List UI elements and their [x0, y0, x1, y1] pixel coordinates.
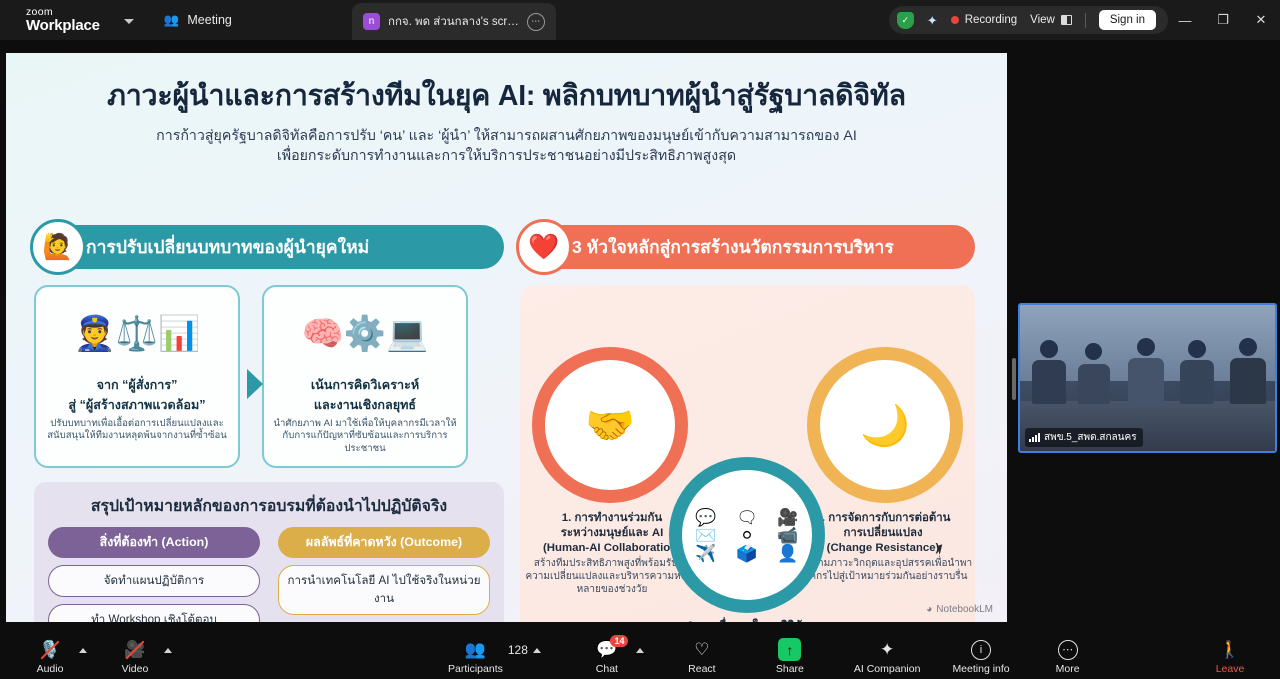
react-button[interactable]: ♡ React: [678, 639, 726, 675]
video-person-head: [1137, 338, 1155, 356]
tab-more-icon[interactable]: ⋯: [527, 13, 545, 31]
audio-label: Audio: [37, 663, 64, 675]
ai-companion-button[interactable]: ✦ AI Companion: [854, 639, 921, 675]
left-panel-header-label: การปรับเปลี่ยนบทบาทของผู้นำยุคใหม่: [86, 233, 369, 261]
zoom-workplace-logo: zoom Workplace: [26, 7, 100, 33]
ai-companion-label: AI Companion: [854, 663, 921, 675]
meeting-toolbar: 🎙️ Audio 🎥 Video 👥 Participants 128 💬 14…: [0, 635, 1280, 679]
video-person-head: [1239, 338, 1257, 356]
envelope-icon: ✉️: [686, 527, 726, 544]
left-card-1: 👮️⚖️📊 จาก “ผู้สั่งการ” สู่ “ผู้สร้างสภาพ…: [34, 285, 240, 468]
left-panel: 🙋 การปรับเปลี่ยนบทบาทของผู้นำยุคใหม่ 👮️⚖…: [34, 225, 504, 622]
shared-screen-tab-title: กกจ. พด ส่วนกลาง's screen: [388, 13, 519, 31]
action-item: จัดทำแผนปฏิบัติการ: [48, 565, 260, 597]
maximize-button[interactable]: ❐: [1204, 0, 1242, 40]
audio-button[interactable]: 🎙️ Audio: [26, 639, 74, 675]
share-label: Share: [776, 663, 804, 675]
scrollbar-handle[interactable]: [1012, 358, 1016, 400]
chat-options-chevron-icon[interactable]: [636, 648, 644, 653]
chat-bubble-icon: 💬: [686, 509, 726, 526]
video-group: 🎥 Video: [111, 639, 172, 675]
shared-screen-tab[interactable]: n กกจ. พด ส่วนกลาง's screen ⋯: [352, 3, 556, 40]
omnichannel-hub-icon: 💬 🗨 🎥 ✉️ ⚪ 📹 ✈️ 🗳️ 👤: [669, 457, 825, 613]
recording-indicator[interactable]: Recording: [951, 14, 1017, 26]
handshake-human-robot-icon: 🤝: [532, 347, 688, 503]
more-button[interactable]: ⋯ More: [1044, 639, 1092, 675]
left-card-2-heading-1: เน้นการคิดวิเคราะห์: [273, 377, 457, 393]
participants-group: 👥 Participants 128: [448, 639, 541, 675]
message-icon: 🗨: [727, 509, 767, 526]
outcome-column-header: ผลลัพธ์ที่คาดหวัง (Outcome): [278, 527, 490, 558]
left-card-1-heading-2: สู่ “ผู้สร้างสภาพแวดล้อม”: [45, 397, 229, 413]
tab-favicon-icon: n: [363, 13, 380, 30]
left-card-1-body: ปรับบทบาทเพื่อเอื้อต่อการเปลี่ยนแปลงและส…: [45, 418, 229, 443]
support-chat-icon: 🗳️: [727, 545, 767, 562]
heart-reaction-icon: ♡: [694, 639, 709, 660]
leave-door-icon: 🚶: [1219, 639, 1240, 660]
ai-sparkle-icon[interactable]: ✦: [927, 14, 938, 27]
officer-gavel-meeting-icon: 👮️⚖️📊: [45, 295, 229, 373]
ai-sparkle-icon: ✦: [880, 639, 894, 660]
minimize-button[interactable]: —: [1166, 0, 1204, 40]
participants-icon: 👥: [465, 639, 486, 660]
video-label: Video: [122, 663, 149, 675]
meeting-tab[interactable]: 👥 Meeting: [164, 13, 232, 28]
leave-label: Leave: [1216, 663, 1245, 675]
title-bar: zoom Workplace 👥 Meeting n กกจ. พด ส่วนก…: [0, 0, 1280, 40]
divider: [1085, 13, 1086, 28]
meeting-info-label: Meeting info: [952, 663, 1009, 675]
slide-columns: 🙋 การปรับเปลี่ยนบทบาทของผู้นำยุคใหม่ 👮️⚖…: [6, 225, 1007, 622]
heart-circuit-icon: ❤️: [516, 219, 572, 275]
recording-dot-icon: [951, 16, 959, 24]
pillar-2-text: 2. การสื่อสารในยุคดิจิทัล (Omnichannel C…: [644, 619, 852, 622]
leave-button[interactable]: 🚶 Leave: [1206, 639, 1254, 675]
more-label: More: [1056, 663, 1080, 675]
chat-button[interactable]: 💬 14 Chat: [583, 639, 631, 675]
meeting-info-button[interactable]: i Meeting info: [952, 639, 1009, 675]
sign-in-button[interactable]: Sign in: [1099, 10, 1156, 30]
chat-unread-badge: 14: [610, 635, 628, 647]
participant-name-text: สพข.5_สพด.สกลนคร: [1044, 430, 1137, 445]
notebooklm-label: NotebookLM: [936, 604, 993, 615]
participant-video-tile[interactable]: สพข.5_สพด.สกลนคร: [1018, 303, 1277, 453]
pillars-area: 🤝 🌙 💬 🗨 🎥 ✉️ ⚪ 📹 ✈️ 🗳️ 👤: [520, 285, 975, 622]
window-controls: — ❐ ✕: [1166, 0, 1280, 40]
left-cards: 👮️⚖️📊 จาก “ผู้สั่งการ” สู่ “ผู้สร้างสภาพ…: [34, 285, 504, 468]
recording-label: Recording: [965, 14, 1017, 26]
participants-count: 128: [508, 643, 528, 657]
notebooklm-watermark: ◕ NotebookLM: [926, 604, 993, 615]
summary-section: สรุปเป้าหมายหลักของการอบรมที่ต้องนำไปปฏิ…: [34, 482, 504, 622]
status-cluster: ✓ ✦ Recording View Sign in: [889, 6, 1168, 34]
slide-title: ภาวะผู้นำและการสร้างทีมในยุค AI: พลิกบทบ…: [6, 72, 1007, 118]
pillar-2-title-1: 2. การสื่อสารในยุคดิจิทัล: [644, 619, 852, 622]
participants-label: Participants: [448, 663, 503, 675]
right-panel-header-label: 3 หัวใจหลักสู่การสร้างนวัตกรรมการบริหาร: [572, 233, 894, 261]
left-card-2: 🧠⚙️💻 เน้นการคิดวิเคราะห์ และงานเชิงกลยุท…: [262, 285, 468, 468]
video-person: [1078, 364, 1110, 404]
video-play-icon: 🎥: [768, 509, 808, 526]
chat-label: Chat: [596, 663, 618, 675]
left-card-2-heading-2: และงานเชิงกลยุทธ์: [273, 397, 457, 413]
summary-heading: สรุปเป้าหมายหลักของการอบรมที่ต้องนำไปปฏิ…: [48, 493, 490, 518]
view-label: View: [1030, 14, 1055, 26]
microphone-muted-icon: 🎙️: [39, 639, 60, 660]
video-button[interactable]: 🎥 Video: [111, 639, 159, 675]
participants-options-chevron-icon[interactable]: [533, 648, 541, 653]
send-icon: ✈️: [686, 545, 726, 562]
person-pointing-up-icon: 🙋: [30, 219, 86, 275]
layout-icon: [1061, 15, 1072, 25]
video-options-chevron-icon[interactable]: [164, 648, 172, 653]
participants-button[interactable]: 👥 Participants: [448, 639, 503, 675]
meeting-stage: ภาวะผู้นำและการสร้างทีมในยุค AI: พลิกบทบ…: [0, 40, 1280, 635]
view-button[interactable]: View: [1030, 14, 1072, 26]
left-card-2-body: นำศักยภาพ AI มาใช้เพื่อให้บุคลากรมีเวลาใ…: [273, 418, 457, 456]
signal-bars-icon: [1029, 433, 1040, 442]
action-column-header: สิ่งที่ต้องทำ (Action): [48, 527, 260, 558]
camera-muted-icon: 🎥: [124, 639, 145, 660]
bridge-goal-flag-icon: 🌙: [807, 347, 963, 503]
action-item: ทำ Workshop เชิงโต้ตอบ: [48, 604, 260, 622]
user-avatar-icon: 👤: [768, 545, 808, 562]
left-panel-header: 🙋 การปรับเปลี่ยนบทบาทของผู้นำยุคใหม่: [34, 225, 504, 269]
shared-screen-slide: ภาวะผู้นำและการสร้างทีมในยุค AI: พลิกบทบ…: [6, 53, 1007, 622]
hub-center-icon: ⚪: [727, 527, 767, 544]
arrow-right-icon: [247, 369, 263, 399]
chat-group: 💬 14 Chat: [583, 639, 644, 675]
react-label: React: [688, 663, 715, 675]
people-icon: 👥: [164, 13, 180, 28]
outcome-item: การนำเทคโนโลยี AI ไปใช้จริงในหน่วยงาน: [278, 565, 490, 615]
left-card-1-heading-1: จาก “ผู้สั่งการ”: [45, 377, 229, 393]
video-person: [1180, 360, 1214, 404]
share-screen-icon: ↑: [778, 639, 801, 660]
right-panel-header: ❤️ 3 หัวใจหลักสู่การสร้างนวัตกรรมการบริห…: [520, 225, 975, 269]
share-button[interactable]: ↑ Share: [766, 639, 814, 675]
chat-icon: 💬 14: [596, 639, 617, 660]
meeting-tab-label: Meeting: [187, 13, 231, 27]
notebooklm-icon: ◕: [926, 604, 932, 615]
encryption-shield-icon[interactable]: ✓: [897, 12, 914, 29]
more-ellipsis-icon: ⋯: [1058, 639, 1078, 660]
slide-subtitle-line1: การก้าวสู่ยุครัฐบาลดิจิทัลคือการปรับ ‘คน…: [6, 126, 1007, 146]
video-camera-icon: 📹: [768, 527, 808, 544]
video-person: [1230, 358, 1266, 404]
video-person: [1128, 358, 1164, 404]
audio-group: 🎙️ Audio: [26, 639, 87, 675]
video-person-head: [1040, 340, 1058, 358]
outcome-column: ผลลัพธ์ที่คาดหวัง (Outcome) การนำเทคโนโล…: [278, 527, 490, 622]
summary-columns: สิ่งที่ต้องทำ (Action) จัดทำแผนปฏิบัติกา…: [48, 527, 490, 622]
video-person-head: [1188, 340, 1206, 358]
slide-subtitle-line2: เพื่อยกระดับการทำงานและการให้บริการประชา…: [6, 146, 1007, 166]
video-person: [1032, 360, 1066, 404]
audio-options-chevron-icon[interactable]: [79, 648, 87, 653]
participant-name-label: สพข.5_สพด.สกลนคร: [1025, 428, 1143, 447]
info-icon: i: [971, 639, 991, 660]
brain-ai-chip-icon: 🧠⚙️💻: [273, 295, 457, 373]
slide-subtitle: การก้าวสู่ยุครัฐบาลดิจิทัลคือการปรับ ‘คน…: [6, 126, 1007, 166]
brand-line-workplace: Workplace: [26, 18, 100, 33]
close-button[interactable]: ✕: [1242, 0, 1280, 40]
action-column: สิ่งที่ต้องทำ (Action) จัดทำแผนปฏิบัติกา…: [48, 527, 260, 622]
right-panel: ❤️ 3 หัวใจหลักสู่การสร้างนวัตกรรมการบริห…: [520, 225, 975, 622]
chevron-down-icon[interactable]: [124, 19, 134, 24]
hub-icon-grid: 💬 🗨 🎥 ✉️ ⚪ 📹 ✈️ 🗳️ 👤: [682, 505, 812, 566]
